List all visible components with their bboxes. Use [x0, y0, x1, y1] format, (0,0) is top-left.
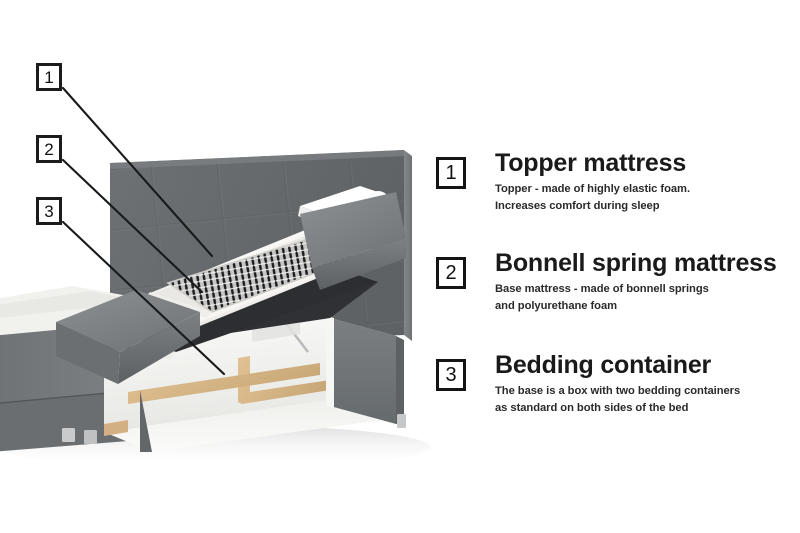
- infographic-page: 1 2 3 1 Topper mattress Topper - made of…: [0, 0, 800, 533]
- product-illustration: 1 2 3: [0, 0, 440, 533]
- legend-item-topper-mattress[interactable]: 1 Topper mattress Topper - made of highl…: [430, 150, 800, 215]
- legend-description-line-2: as standard on both sides of the bed: [495, 400, 796, 417]
- legend-number-box-1: 1: [436, 157, 466, 189]
- legend-description-line-1: Base mattress - made of bonnell springs: [495, 281, 796, 298]
- legend-text-block: Bedding container The base is a box with…: [495, 352, 800, 417]
- legend-number: 3: [445, 365, 456, 385]
- legend-description-line-1: Topper - made of highly elastic foam.: [495, 181, 796, 198]
- legend-text-block: Topper mattress Topper - made of highly …: [495, 150, 800, 215]
- legend-description: Base mattress - made of bonnell springs …: [495, 281, 796, 315]
- boxspring-bed-cutaway-svg: [0, 0, 440, 533]
- callout-box-3[interactable]: 3: [36, 197, 62, 225]
- legend-title: Topper mattress: [495, 150, 796, 176]
- legend-description-line-1: The base is a box with two bedding conta…: [495, 383, 796, 400]
- legend-description: The base is a box with two bedding conta…: [495, 383, 796, 417]
- legend-description-line-2: Increases comfort during sleep: [495, 198, 796, 215]
- legend-number-box-3: 3: [436, 359, 466, 391]
- callout-box-2[interactable]: 2: [36, 135, 62, 163]
- legend-number: 2: [445, 263, 456, 283]
- legend-text-block: Bonnell spring mattress Base mattress - …: [495, 250, 800, 315]
- legend-title: Bonnell spring mattress: [495, 250, 796, 276]
- callout-number: 1: [44, 69, 53, 86]
- legend-item-bedding-container[interactable]: 3 Bedding container The base is a box wi…: [430, 352, 800, 417]
- legend-title: Bedding container: [495, 352, 796, 378]
- legend-description: Topper - made of highly elastic foam. In…: [495, 181, 796, 215]
- callout-number: 3: [44, 203, 53, 220]
- legend-panel: 1 Topper mattress Topper - made of highl…: [430, 0, 800, 533]
- legend-number-box-2: 2: [436, 257, 466, 289]
- callout-box-1[interactable]: 1: [36, 63, 62, 91]
- callout-number: 2: [44, 141, 53, 158]
- legend-description-line-2: and polyurethane foam: [495, 298, 796, 315]
- legend-number: 1: [445, 163, 456, 183]
- legend-item-bonnell-spring-mattress[interactable]: 2 Bonnell spring mattress Base mattress …: [430, 250, 800, 315]
